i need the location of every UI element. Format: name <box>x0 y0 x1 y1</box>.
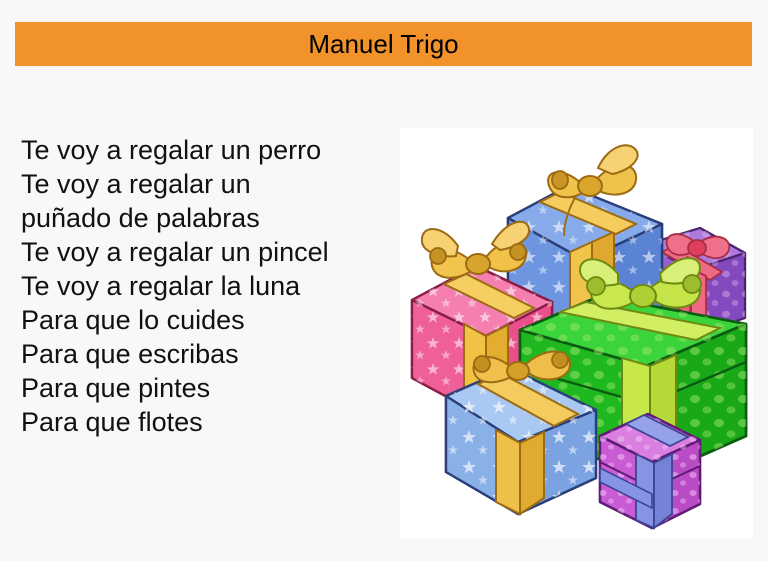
lyric-line: Te voy a regalar un pincel <box>21 235 391 269</box>
lyric-line: Te voy a regalar un <box>21 167 391 201</box>
gift-boxes-image <box>400 128 753 539</box>
lyric-line: Te voy a regalar la luna <box>21 269 391 303</box>
lyric-line: Para que pintes <box>21 371 391 405</box>
gift-boxes-illustration <box>400 128 753 539</box>
slide-title-bar: Manuel Trigo <box>15 22 752 66</box>
lyric-line: Te voy a regalar un perro <box>21 133 391 167</box>
lyrics-text-block: Te voy a regalar un perro Te voy a regal… <box>21 133 391 439</box>
slide-canvas: Manuel Trigo Te voy a regalar un perro T… <box>0 0 768 561</box>
lyric-line: puñado de palabras <box>21 201 391 235</box>
lyric-line: Para que flotes <box>21 405 391 439</box>
lyric-line: Para que escribas <box>21 337 391 371</box>
page-title: Manuel Trigo <box>308 31 458 57</box>
lyric-line: Para que lo cuides <box>21 303 391 337</box>
